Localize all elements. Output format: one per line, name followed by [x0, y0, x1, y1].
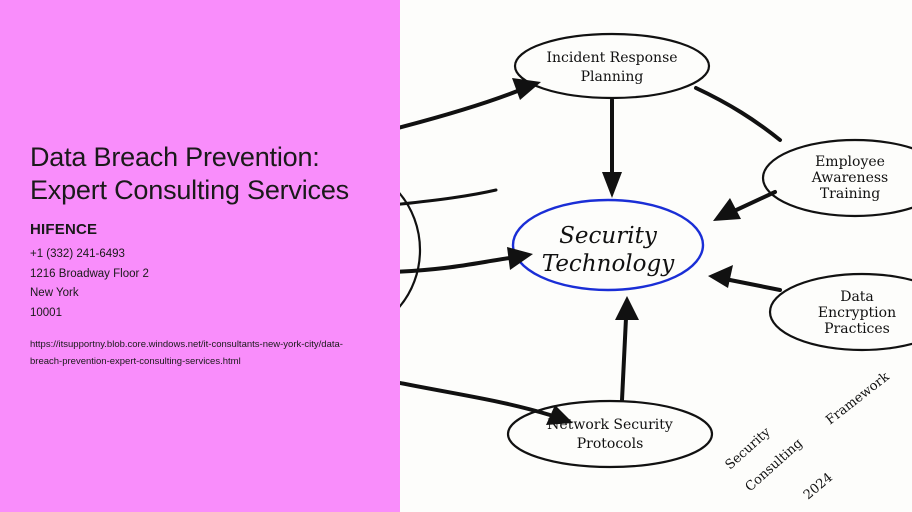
node-top-shape [515, 34, 709, 98]
annotation-line-4: 2024 [801, 470, 836, 503]
node-bottom-label-2: Protocols [577, 436, 644, 452]
source-url[interactable]: https://itsupportny.blob.core.windows.ne… [30, 337, 360, 370]
poster-page: Data Breach Prevention: Expert Consultin… [0, 0, 912, 512]
phone-number: +1 (332) 241-6493 [30, 245, 370, 265]
node-left-shape [400, 165, 420, 335]
node-right-lower-label-2: Encryption [818, 305, 896, 321]
node-top-label-2: Planning [581, 69, 644, 85]
address-city: New York [30, 284, 370, 304]
node-top-label-1: Incident Response [546, 50, 677, 66]
diagram-annotation: Security Consulting Framework 2024 [723, 369, 893, 503]
node-right-upper-label-1: Employee [815, 154, 885, 170]
center-node-label-2: Technology [542, 251, 675, 277]
concept-diagram: Security Technology Incident Response Pl… [400, 0, 912, 512]
node-right-lower-label-3: Practices [824, 321, 890, 337]
diagram-panel: Security Technology Incident Response Pl… [400, 0, 912, 512]
info-panel: Data Breach Prevention: Expert Consultin… [0, 0, 400, 512]
node-right-upper-label-2: Awareness [811, 170, 888, 186]
brand-name: HIFENCE [30, 221, 370, 238]
node-right-upper-label-3: Training [820, 186, 880, 202]
address-zip: 10001 [30, 304, 370, 324]
page-title: Data Breach Prevention: Expert Consultin… [30, 141, 370, 207]
annotation-line-3: Framework [823, 369, 892, 428]
address-street: 1216 Broadway Floor 2 [30, 265, 370, 285]
node-right-lower-label-1: Data [840, 289, 874, 305]
center-node-label-1: Security [559, 223, 658, 249]
